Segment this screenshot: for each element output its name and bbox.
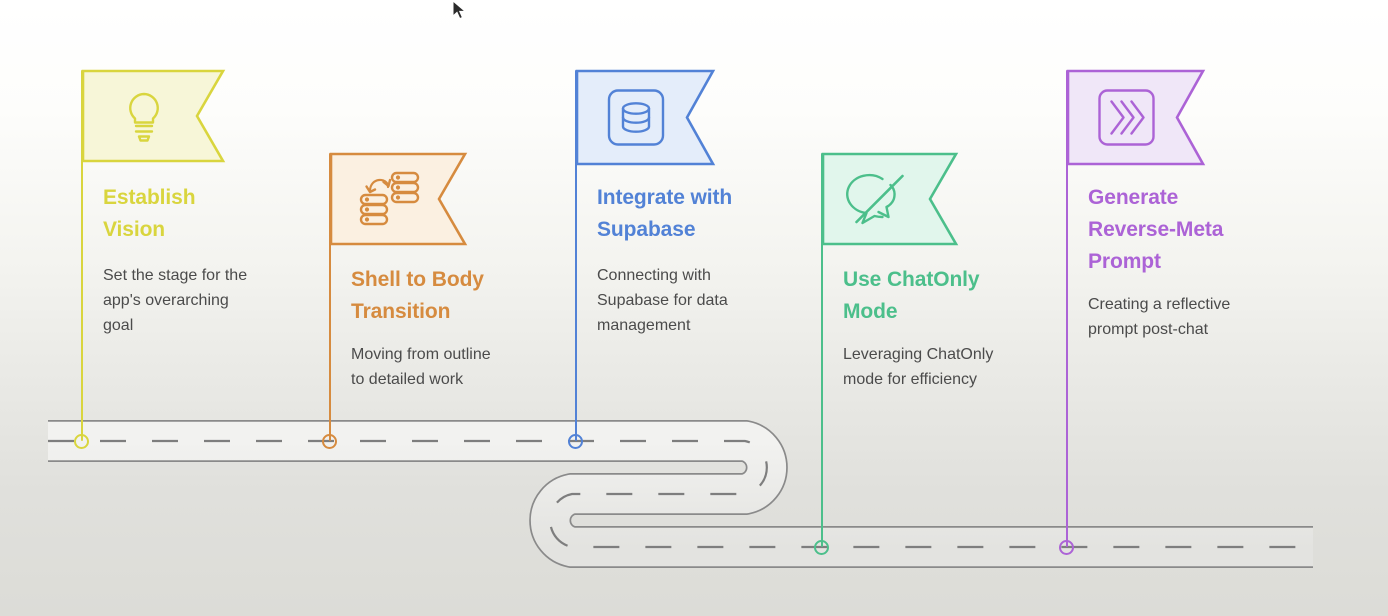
milestone-flag[interactable] [82, 70, 228, 166]
milestone-flag[interactable] [822, 153, 961, 249]
roadmap-canvas: Establish VisionSet the stage for the ap… [0, 0, 1388, 616]
milestone-road-marker[interactable] [568, 434, 583, 449]
milestone-flag[interactable] [576, 70, 718, 169]
milestone-road-marker[interactable] [814, 540, 829, 555]
milestone-road-marker[interactable] [74, 434, 89, 449]
milestone-flag[interactable] [330, 153, 470, 249]
milestone-road-marker[interactable] [1059, 540, 1074, 555]
milestone-flag[interactable] [1067, 70, 1208, 169]
milestone-road-marker[interactable] [322, 434, 337, 449]
